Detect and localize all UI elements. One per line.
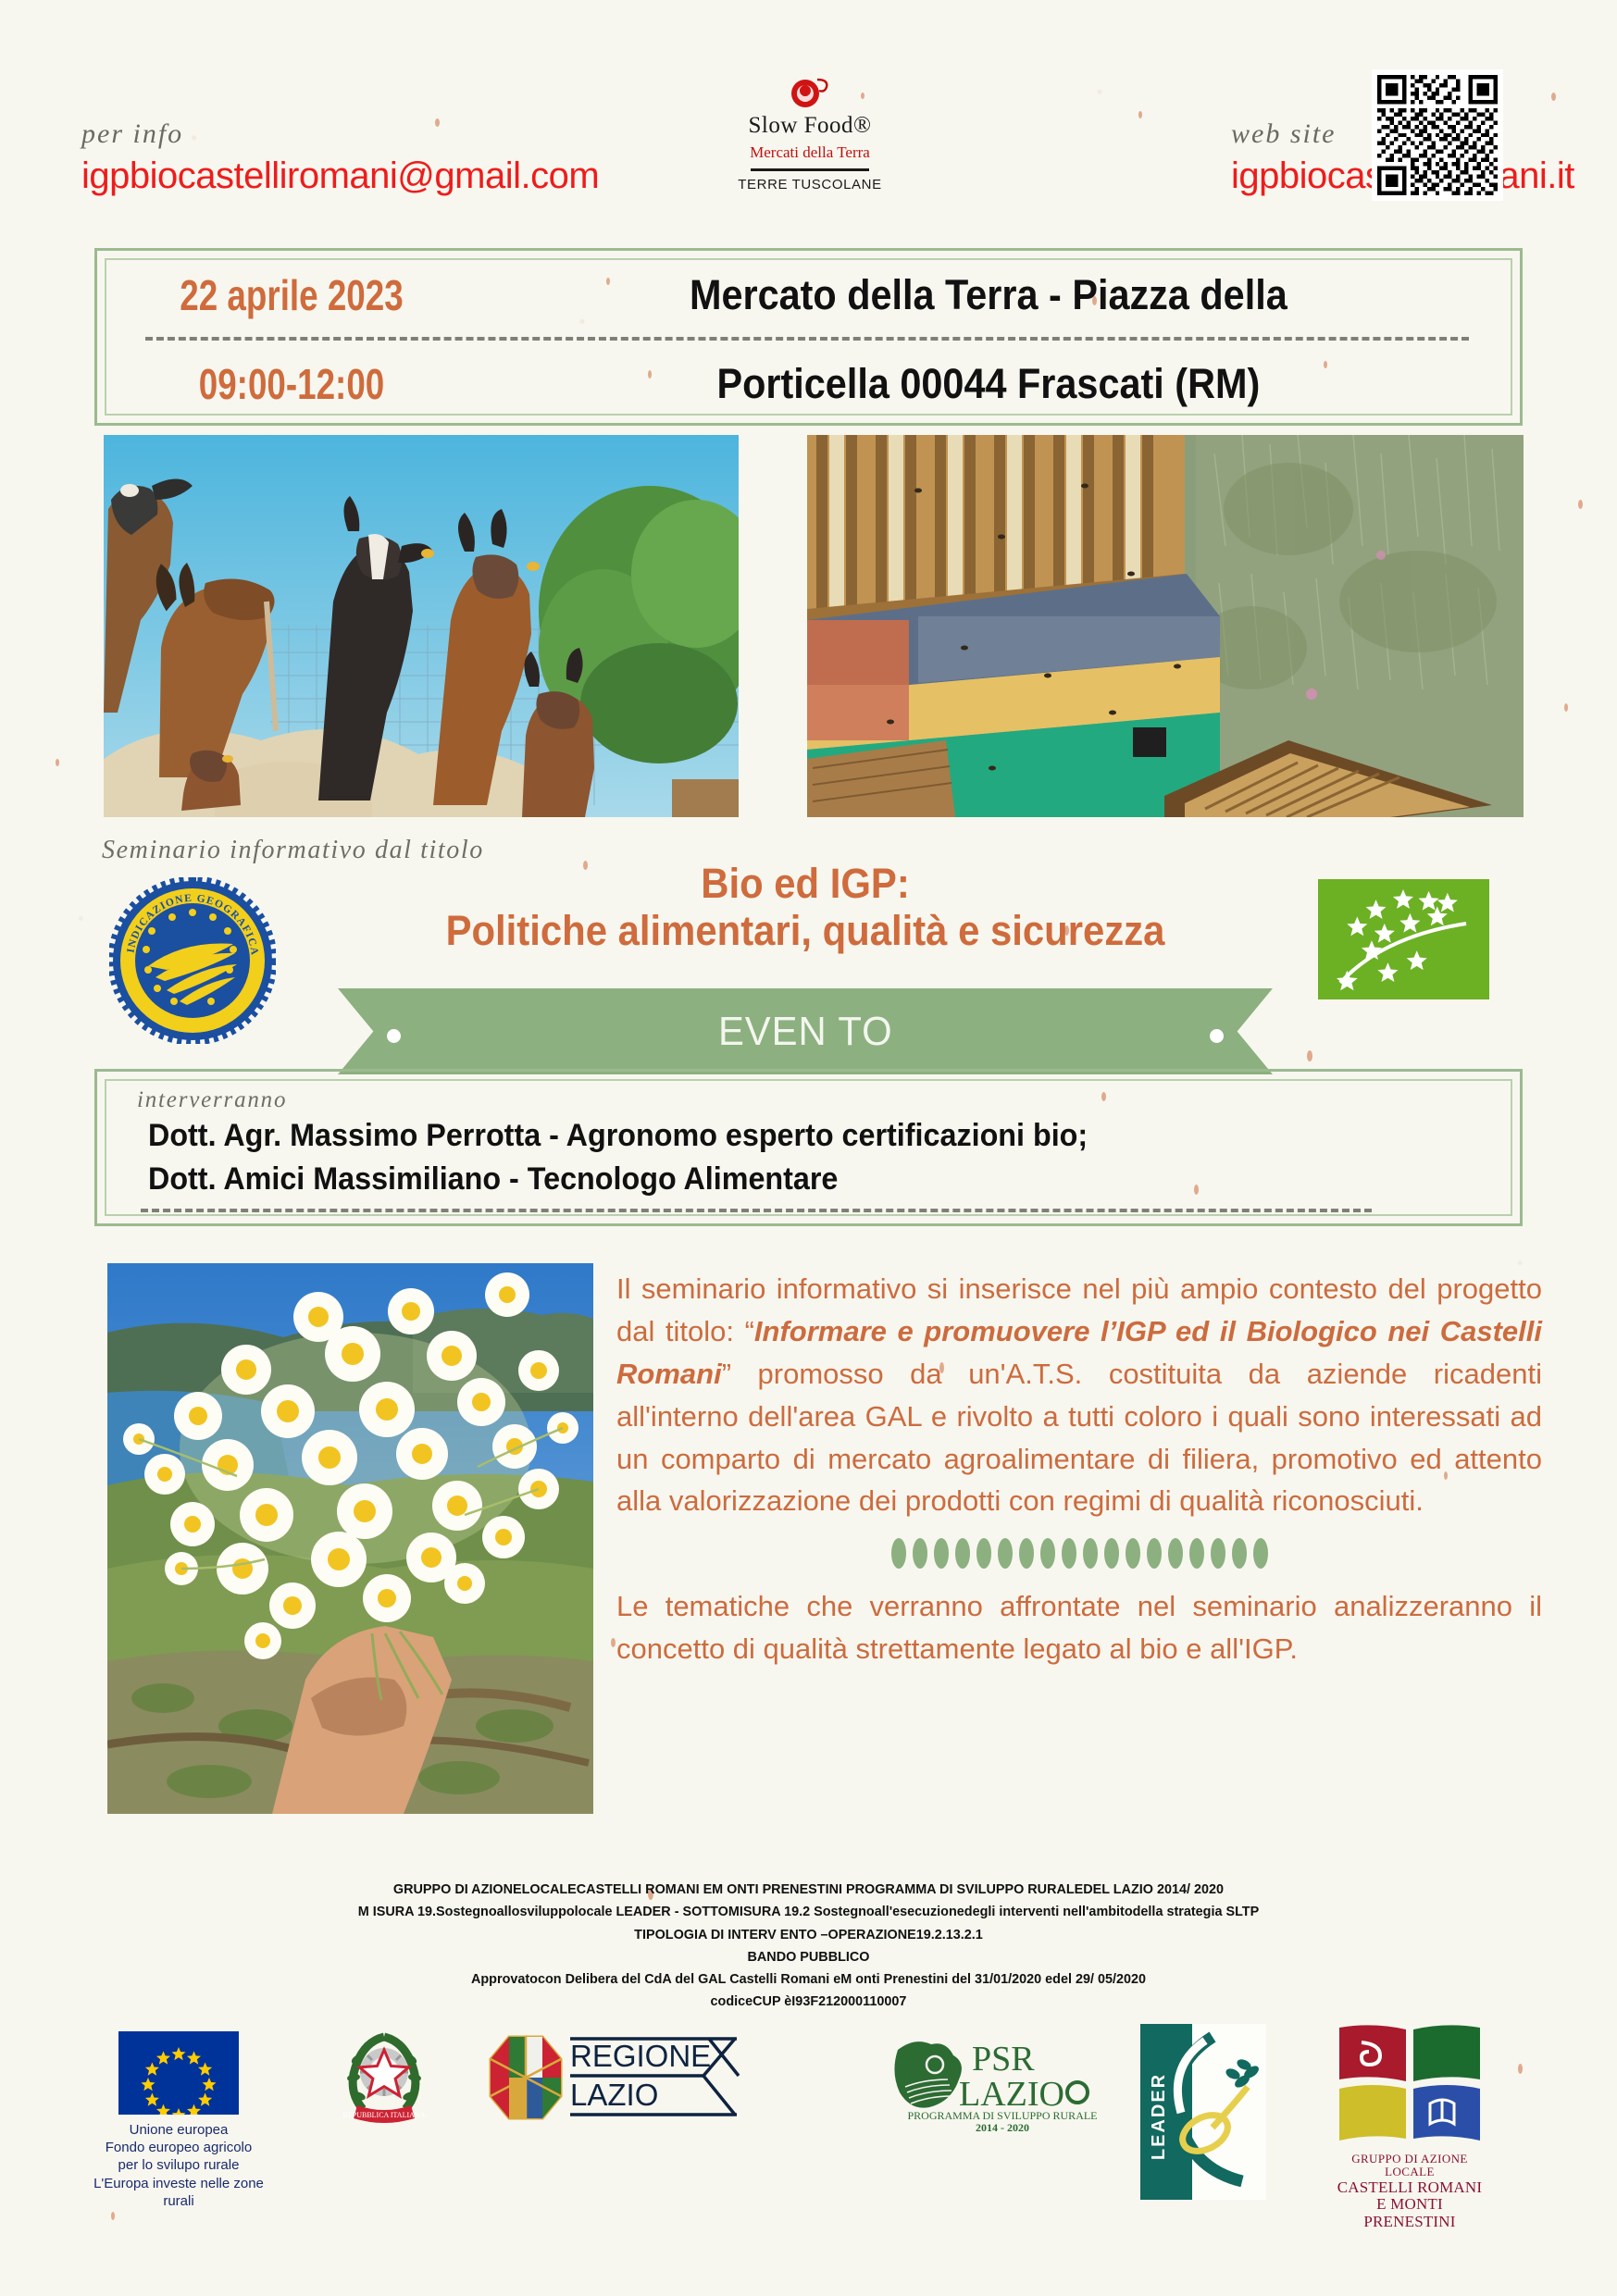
event-details-banner: 22 aprile 2023 Mercato della Terra - Pia… xyxy=(94,248,1523,426)
body-paragraph-1: Il seminario informativo si inserisce ne… xyxy=(616,1268,1542,1522)
igp-seal-icon: INDICAZIONE GEOGRAFICA PROTETTA xyxy=(109,877,276,1044)
leaf-icon xyxy=(1040,1538,1055,1569)
snail-icon xyxy=(790,74,830,111)
eu-caption: Unione europea Fondo europeo agricolo pe… xyxy=(91,2121,267,2210)
email-address[interactable]: igpbiocastelliromani@gmail.com xyxy=(81,155,599,197)
leaf-icon xyxy=(913,1538,927,1569)
chamomile-bouquet-photo xyxy=(107,1263,593,1814)
leaf-icon xyxy=(1211,1538,1225,1569)
gal-castelli-romani-logo: GRUPPO DI AZIONE LOCALE CASTELLI ROMANI … xyxy=(1336,2024,1484,2200)
speck xyxy=(1307,1050,1312,1061)
footer-line-4: BANDO PUBBLICO xyxy=(32,1946,1585,1968)
banner-inner: 22 aprile 2023 Mercato della Terra - Pia… xyxy=(97,251,1520,423)
gal-caption: GRUPPO DI AZIONE LOCALE CASTELLI ROMANI … xyxy=(1336,2153,1484,2231)
leaf-icon xyxy=(1083,1538,1098,1569)
leaf-icon xyxy=(1189,1538,1204,1569)
speck xyxy=(1578,500,1583,509)
psr-lazio-text: LAZIO xyxy=(959,2075,1064,2114)
footer-line-3: TIPOLOGIA DI INTERV ENTO –OPERAZIONE19.2… xyxy=(32,1924,1585,1946)
speck xyxy=(611,1638,616,1647)
ribbon-dot-right xyxy=(1210,1029,1224,1043)
leaf-divider xyxy=(616,1537,1542,1569)
psr-subtitle: PROGRAMMA DI SVILUPPO RURALE xyxy=(907,2109,1097,2122)
eu-caption-line-1: Unione europea xyxy=(91,2121,267,2139)
leaf-icon xyxy=(1126,1538,1140,1569)
leaf-icon xyxy=(1147,1538,1162,1569)
speaker-line-1: Dott. Agr. Massimo Perrotta - Agronomo e… xyxy=(148,1118,1088,1154)
leaf-icon xyxy=(955,1538,970,1569)
divider xyxy=(751,168,869,171)
slow-food-logo: Slow Food® Mercati della Terra TERRE TUS… xyxy=(717,74,902,192)
speaker-line-2: Dott. Amici Massimiliano - Tecnologo Ali… xyxy=(148,1161,838,1198)
lazio-text: LAZIO xyxy=(570,2078,658,2112)
gal-caption-line-1: GRUPPO DI AZIONE LOCALE xyxy=(1336,2153,1484,2179)
leader-label: LEADER xyxy=(1149,2073,1169,2160)
page-title: Bio ed IGP: Politiche alimentari, qualit… xyxy=(341,861,1270,955)
regione-lazio-logo: REGIONE LAZIO xyxy=(489,2028,740,2128)
eu-organic-leaf-icon xyxy=(1318,879,1489,999)
venue-line-1: Mercato della Terra - Piazza della xyxy=(528,271,1479,319)
beehives-photo xyxy=(807,435,1524,817)
title-line-1: Bio ed IGP: xyxy=(341,861,1270,908)
footer-line-2: M ISURA 19.Sostegnoallosviluppolocale LE… xyxy=(32,1901,1585,1923)
leaf-icon xyxy=(976,1538,991,1569)
banner-row-time: 09:00-12:00 Porticella 00044 Frascati (R… xyxy=(97,340,1520,428)
ribbon-label: EVEN TO xyxy=(718,1009,893,1055)
speck xyxy=(1564,703,1568,712)
regione-text: REGIONE xyxy=(570,2039,711,2073)
leaf-icon xyxy=(998,1538,1013,1569)
psr-lazio-logo: PSR LAZIO PROGRAMMA DI SVILUPPO RURALE 2… xyxy=(887,2031,1118,2133)
title-line-2: Politiche alimentari, qualità e sicurezz… xyxy=(341,908,1270,955)
leader-logo: LEADER xyxy=(1140,2024,1266,2200)
footer-line-6: codiceCUP èI93F212000110007 xyxy=(32,1991,1585,2013)
slow-food-name: Slow Food® xyxy=(717,113,902,139)
poster-root: per info igpbiocastelliromani@gmail.com … xyxy=(0,0,1617,2296)
psr-text: PSR xyxy=(972,2040,1035,2079)
slow-food-subtitle: Mercati della Terra xyxy=(717,143,902,162)
repubblica-italiana-emblem-icon: REPUBBLICA ITALIANA xyxy=(333,2026,435,2129)
psr-years: 2014 - 2020 xyxy=(976,2121,1029,2133)
ribbon-dot-left xyxy=(387,1029,401,1043)
gal-caption-line-2: CASTELLI ROMANI xyxy=(1336,2179,1484,2197)
slow-food-region: TERRE TUSCOLANE xyxy=(717,177,902,192)
footer-line-5: Approvatocon Delibera del CdA del GAL Ca… xyxy=(32,1968,1585,1991)
leaf-icon xyxy=(1168,1538,1183,1569)
eu-caption-line-3: per lo svilupo rurale xyxy=(91,2156,267,2174)
speck xyxy=(56,759,59,766)
interverranno-label: interverranno xyxy=(137,1087,287,1113)
repubblica-ribbon-text: REPUBBLICA ITALIANA xyxy=(343,2111,426,2119)
evento-ribbon: EVEN TO xyxy=(338,988,1273,1074)
eu-caption-line-2: Fondo europeo agricolo xyxy=(91,2139,267,2156)
speakers-divider xyxy=(141,1209,1372,1212)
event-date: 22 aprile 2023 xyxy=(136,270,447,320)
contact-email-block: per info igpbiocastelliromani@gmail.com xyxy=(81,118,599,197)
eu-caption-line-4: L'Europa investe nelle zone rurali xyxy=(91,2175,267,2210)
speck xyxy=(1551,93,1556,101)
leaf-icon xyxy=(1019,1538,1034,1569)
qr-code-icon[interactable] xyxy=(1372,69,1503,201)
leaf-icon xyxy=(891,1538,906,1569)
banner-row-date: 22 aprile 2023 Mercato della Terra - Pia… xyxy=(97,251,1520,340)
logo-strip: Unione europea Fondo europeo agricolo pe… xyxy=(0,2022,1617,2281)
body-text: Il seminario informativo si inserisce ne… xyxy=(616,1268,1542,1670)
european-union-flag-icon xyxy=(118,2031,239,2115)
leaf-icon xyxy=(934,1538,949,1569)
body-p1-part-b: ” promosso da un'A.T.S. costituita da az… xyxy=(616,1358,1542,1518)
body-paragraph-2: Le tematiche che verranno affrontate nel… xyxy=(616,1585,1542,1670)
goats-photo xyxy=(104,435,739,817)
leaf-icon xyxy=(1232,1538,1247,1569)
header: per info igpbiocastelliromani@gmail.com … xyxy=(0,118,1617,230)
event-time: 09:00-12:00 xyxy=(136,359,447,409)
gal-caption-line-3: E MONTI PRENESTINI xyxy=(1336,2196,1484,2230)
leaf-icon xyxy=(1062,1538,1076,1569)
footer-line-1: GRUPPO DI AZIONELOCALECASTELLI ROMANI EM… xyxy=(32,1879,1585,1901)
eu-logo: Unione europea Fondo europeo agricolo pe… xyxy=(118,2031,267,2210)
leaf-icon xyxy=(1253,1538,1268,1569)
leaf-icon xyxy=(1104,1538,1119,1569)
venue-line-2: Porticella 00044 Frascati (RM) xyxy=(528,360,1479,408)
funding-disclaimer: GRUPPO DI AZIONELOCALECASTELLI ROMANI EM… xyxy=(0,1879,1617,2014)
per-info-label: per info xyxy=(81,118,599,150)
speck xyxy=(1138,111,1142,118)
